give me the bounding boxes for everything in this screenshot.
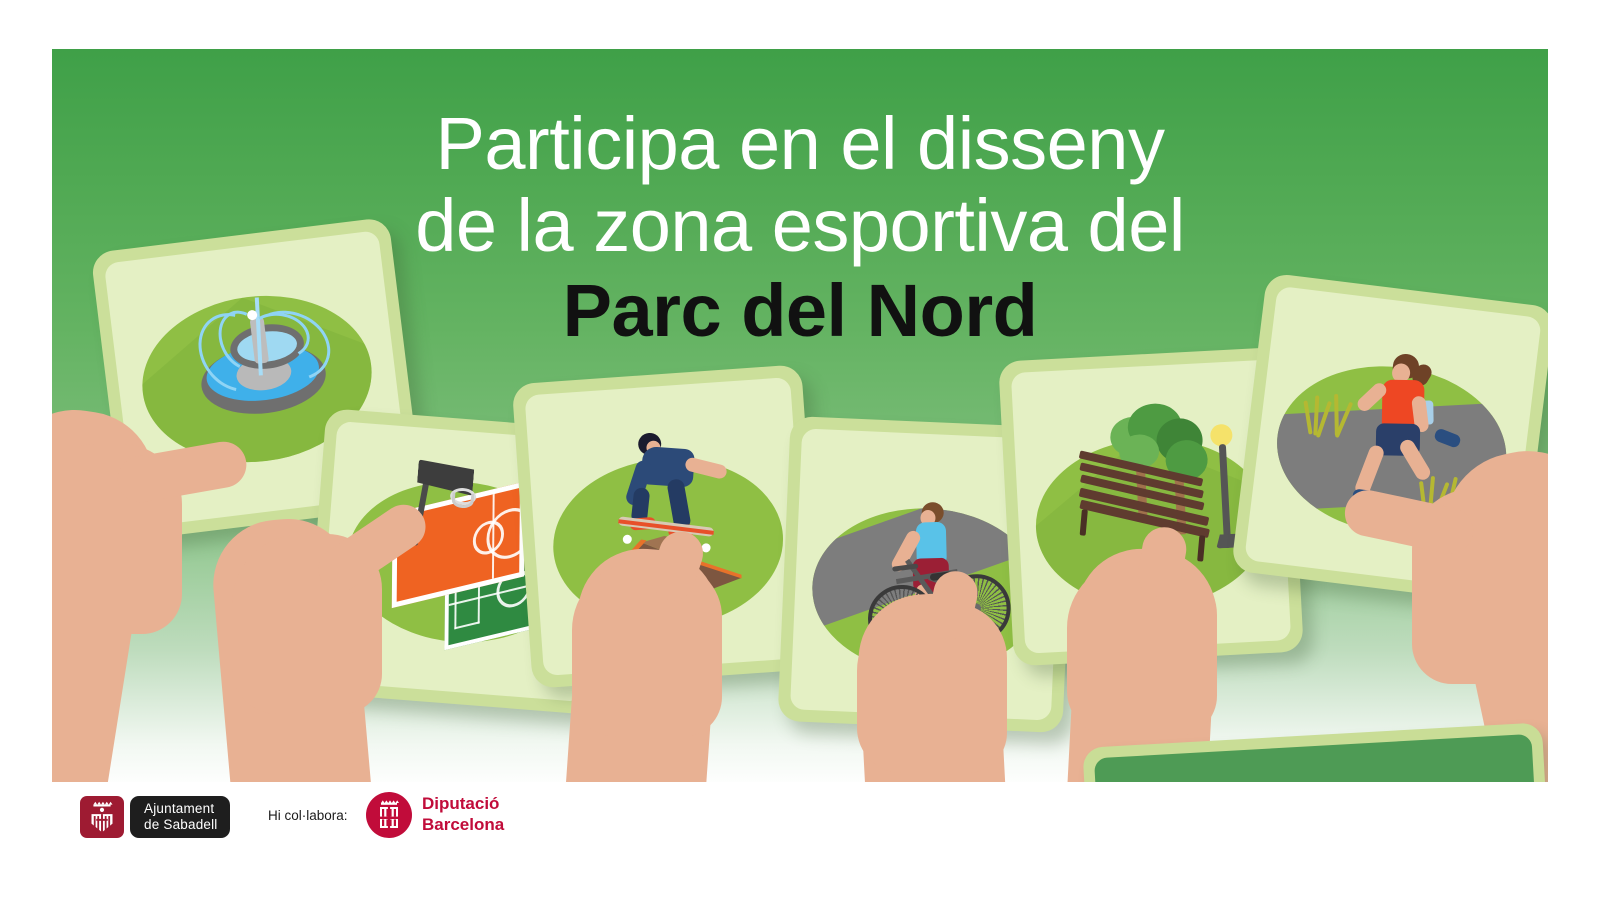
title-line-1: Participa en el disseny <box>52 109 1548 179</box>
diputacio-line-1: Diputació <box>422 794 499 813</box>
sabadell-line-2: de Sabadell <box>144 817 218 833</box>
banner-panel: Participa en el disseny de la zona espor… <box>52 49 1548 782</box>
sabadell-name-box: Ajuntament de Sabadell <box>130 796 230 838</box>
diputacio-crest-icon <box>366 792 412 838</box>
poster-canvas: Participa en el disseny de la zona espor… <box>0 0 1600 900</box>
diputacio-name: Diputació Barcelona <box>422 794 504 835</box>
logo-ajuntament-sabadell[interactable]: Ajuntament de Sabadell <box>80 796 230 838</box>
footer-logos: Ajuntament de Sabadell Hi col·labora: <box>0 782 1600 900</box>
sabadell-line-1: Ajuntament <box>144 801 218 817</box>
logo-diputacio-barcelona[interactable]: Diputació Barcelona <box>366 792 504 838</box>
diputacio-line-2: Barcelona <box>422 815 504 834</box>
sabadell-crest-icon <box>80 796 124 838</box>
collaborate-label: Hi col·labora: <box>268 808 348 823</box>
